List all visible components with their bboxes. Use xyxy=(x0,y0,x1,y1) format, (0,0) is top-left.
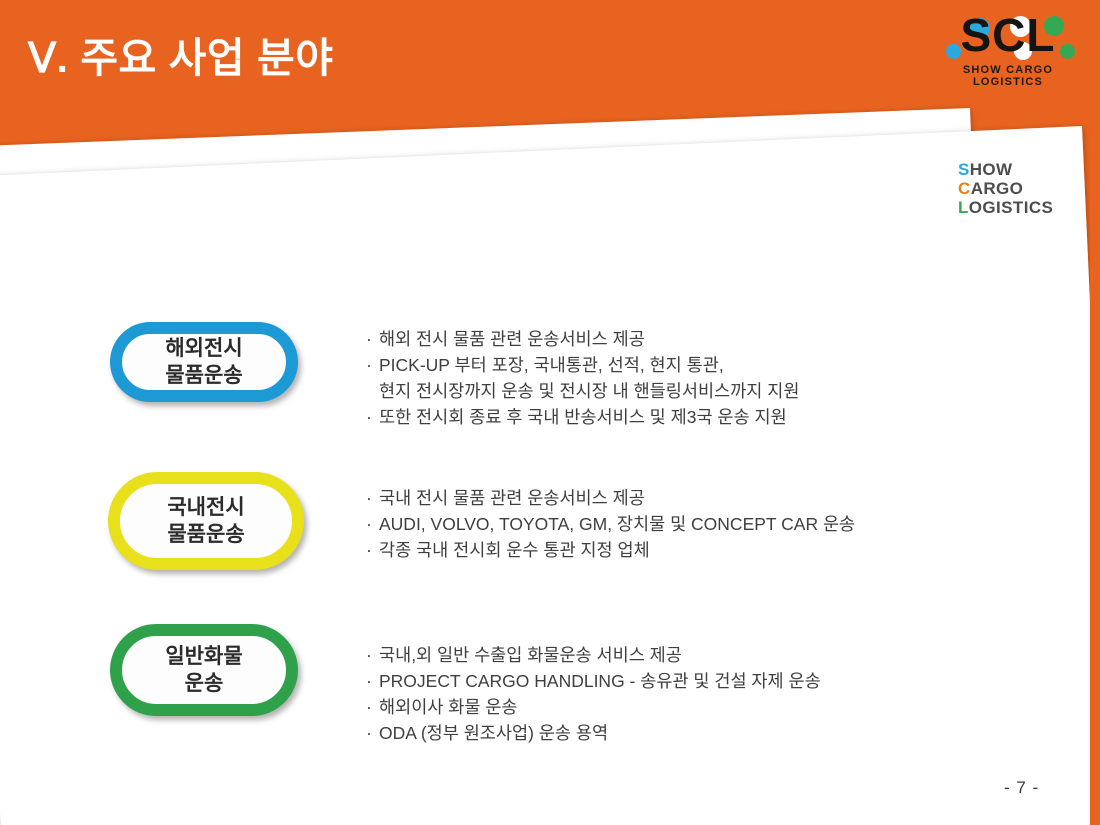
pill-label-line1: 일반화물 xyxy=(165,645,242,668)
page-number: - 7 - xyxy=(1004,778,1039,798)
bullet-item: ·또한 전시회 종료 후 국내 반송서비스 및 제3국 운송 지원 xyxy=(366,404,799,430)
bullet-text: 현지 전시장까지 운송 및 전시장 내 핸들링서비스까지 지원 xyxy=(379,381,799,401)
bullet-text: 국내 전시 물품 관련 운송서비스 제공 xyxy=(379,488,645,508)
bullet-item: ·각종 국내 전시회 운수 통관 지정 업체 xyxy=(366,537,855,563)
bullet-item: ·국내,외 일반 수출입 화물운송 서비스 제공 xyxy=(366,642,821,668)
pill-label-line2: 물품운송 xyxy=(165,364,242,387)
bullet-marker: · xyxy=(366,404,379,430)
bullet-marker: · xyxy=(366,537,379,563)
bullet-marker: · xyxy=(366,485,379,511)
bullet-marker: · xyxy=(366,326,379,352)
scl-subtitle: SHOW CARGO LOGISTICS xyxy=(932,64,1084,88)
category-pill-domestic-exhibition[interactable]: 국내전시 물품운송 xyxy=(108,472,304,570)
bullet-text: 해외 전시 물품 관련 운송서비스 제공 xyxy=(379,329,645,349)
bullet-list-general-cargo: ·국내,외 일반 수출입 화물운송 서비스 제공 ·PROJECT CARGO … xyxy=(366,642,821,746)
bullet-item: ·PICK-UP 부터 포장, 국내통관, 선적, 현지 통관, xyxy=(366,352,799,378)
bullet-text: 국내,외 일반 수출입 화물운송 서비스 제공 xyxy=(379,645,682,665)
bullet-item: ·ODA (정부 원조사업) 운송 용역 xyxy=(366,720,821,746)
page-logo-how: HOW xyxy=(970,160,1013,179)
slide-canvas: Ⅴ. 주요 사업 분야 SCL SHOW CARGO LOGISTICS SHO… xyxy=(0,0,1100,825)
bullet-marker: · xyxy=(366,694,379,720)
page-logo-line-cargo: CARGO xyxy=(958,179,1053,198)
bullet-marker: · xyxy=(366,642,379,668)
scl-logo: SCL SHOW CARGO LOGISTICS xyxy=(932,14,1084,84)
page-logo-l: L xyxy=(958,198,969,217)
bullet-item: ·PROJECT CARGO HANDLING - 송유관 및 건설 자제 운송 xyxy=(366,668,821,694)
bullet-marker: · xyxy=(366,668,379,694)
bullet-text: ODA (정부 원조사업) 운송 용역 xyxy=(379,723,608,743)
bullet-marker: · xyxy=(366,511,379,537)
pill-label-line1: 해외전시 xyxy=(165,337,242,360)
bullet-marker: · xyxy=(366,352,379,378)
bullet-item: ·AUDI, VOLVO, TOYOTA, GM, 장치물 및 CONCEPT … xyxy=(366,511,855,537)
bullet-list-domestic: ·국내 전시 물품 관련 운송서비스 제공 ·AUDI, VOLVO, TOYO… xyxy=(366,485,855,563)
bullet-marker: · xyxy=(366,720,379,746)
pill-label-line2: 물품운송 xyxy=(167,523,244,546)
bullet-text: 또한 전시회 종료 후 국내 반송서비스 및 제3국 운송 지원 xyxy=(379,407,787,427)
category-pill-general-cargo[interactable]: 일반화물 운송 xyxy=(110,624,298,716)
category-pill-overseas-exhibition[interactable]: 해외전시 물품운송 xyxy=(110,322,298,402)
bullet-text: AUDI, VOLVO, TOYOTA, GM, 장치물 및 CONCEPT C… xyxy=(379,514,855,534)
page-logo-line-logistics: LOGISTICS xyxy=(958,198,1053,217)
page-logo-line-show: SHOW xyxy=(958,160,1053,179)
bullet-text: PICK-UP 부터 포장, 국내통관, 선적, 현지 통관, xyxy=(379,355,724,375)
page-scl-logo: SHOW CARGO LOGISTICS xyxy=(958,160,1053,217)
bullet-text: 해외이사 화물 운송 xyxy=(379,697,518,717)
page-title: Ⅴ. 주요 사업 분야 xyxy=(28,24,333,84)
pill-label-line2: 운송 xyxy=(185,672,224,695)
bullet-list-overseas: ·해외 전시 물품 관련 운송서비스 제공 ·PICK-UP 부터 포장, 국내… xyxy=(366,326,799,430)
bullet-item: ·해외이사 화물 운송 xyxy=(366,694,821,720)
right-orange-edge xyxy=(1090,0,1100,825)
page-logo-c: C xyxy=(958,179,971,198)
pill-label-line1: 국내전시 xyxy=(167,496,244,519)
bullet-item: ·해외 전시 물품 관련 운송서비스 제공 xyxy=(366,326,799,352)
scl-letters: SCL xyxy=(932,10,1084,60)
bullet-text: 각종 국내 전시회 운수 통관 지정 업체 xyxy=(379,540,650,560)
page-logo-s: S xyxy=(958,160,970,179)
scl-wordmark: SCL xyxy=(932,14,1084,64)
page-logo-argo: ARGO xyxy=(971,179,1024,198)
bullet-item: ·국내 전시 물품 관련 운송서비스 제공 xyxy=(366,485,855,511)
bullet-text: PROJECT CARGO HANDLING - 송유관 및 건설 자제 운송 xyxy=(379,671,821,691)
bullet-item-continuation: 현지 전시장까지 운송 및 전시장 내 핸들링서비스까지 지원 xyxy=(366,378,799,404)
page-content: SHOW CARGO LOGISTICS 해외전시 물품운송 ·해외 전시 물품… xyxy=(0,0,1100,825)
page-logo-ogistics: OGISTICS xyxy=(969,198,1053,217)
